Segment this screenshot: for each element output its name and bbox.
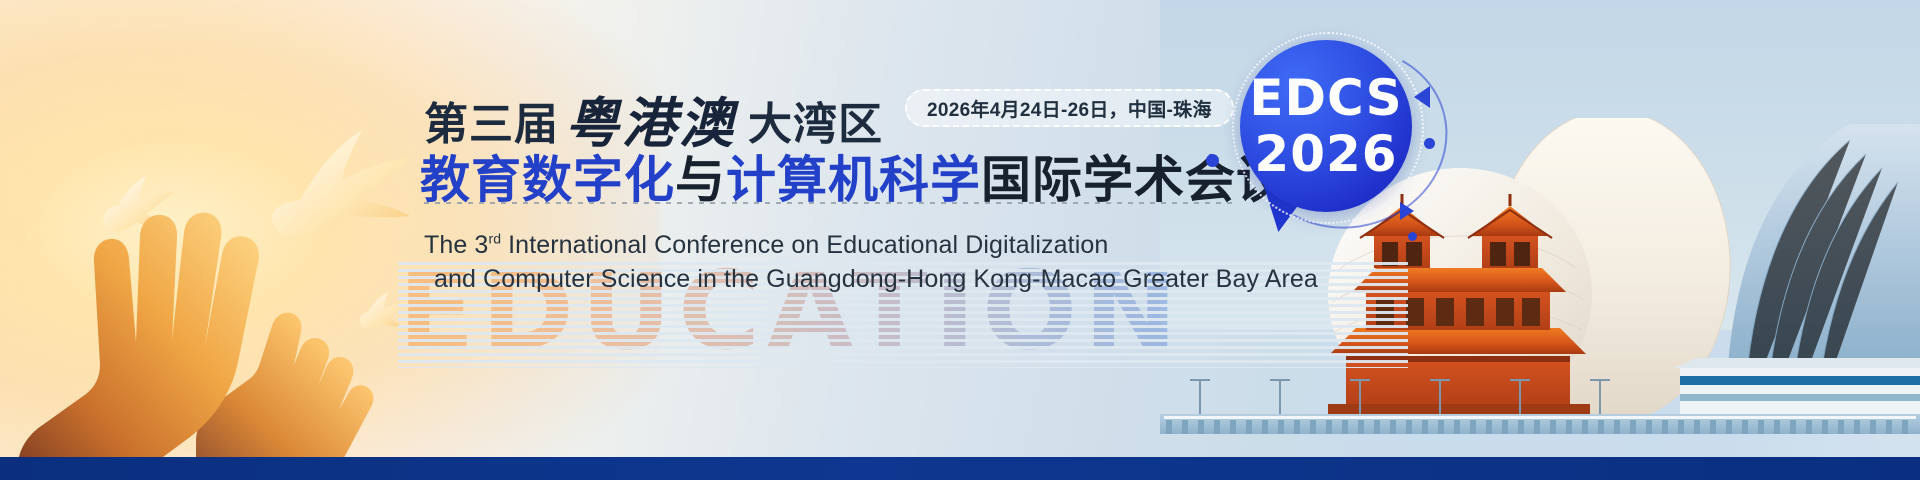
ordinal-suffix: rd: [488, 231, 501, 247]
dot-decoration-bottom: [1408, 232, 1417, 241]
subtitle-prefix: The 3: [424, 231, 488, 259]
dotted-divider: [424, 202, 1234, 204]
logo-circle: EDCS 2026: [1240, 40, 1412, 212]
dot-decoration-left: [1206, 154, 1219, 167]
conference-banner: EDUCATION 第三届 粤港澳 大湾区 2026年4月24日-26日，中国-…: [0, 0, 1920, 480]
bottom-bar-sheen: [0, 457, 1920, 480]
edcs-logo: EDCS 2026: [1218, 26, 1468, 226]
logo-acronym: EDCS: [1249, 73, 1402, 123]
logo-year: 2026: [1254, 129, 1397, 179]
bottom-accent-bar: [0, 457, 1920, 480]
dot-decoration-right: [1424, 138, 1435, 149]
subtitle-line-2: and Computer Science in the Guangdong-Ho…: [434, 262, 1318, 296]
subtitle-rest: International Conference on Educational …: [501, 231, 1108, 259]
banner-content: 第三届 粤港澳 大湾区 2026年4月24日-26日，中国-珠海 教育数字化 与…: [0, 0, 1920, 480]
date-location-badge: 2026年4月24日-26日，中国-珠海: [905, 89, 1234, 127]
triangle-decoration-bottom: [1400, 202, 1414, 220]
subtitle-line-1: The 3rd International Conference on Educ…: [424, 231, 1108, 259]
triangle-decoration-right: [1414, 86, 1430, 108]
english-subtitle: The 3rd International Conference on Educ…: [424, 222, 1318, 296]
